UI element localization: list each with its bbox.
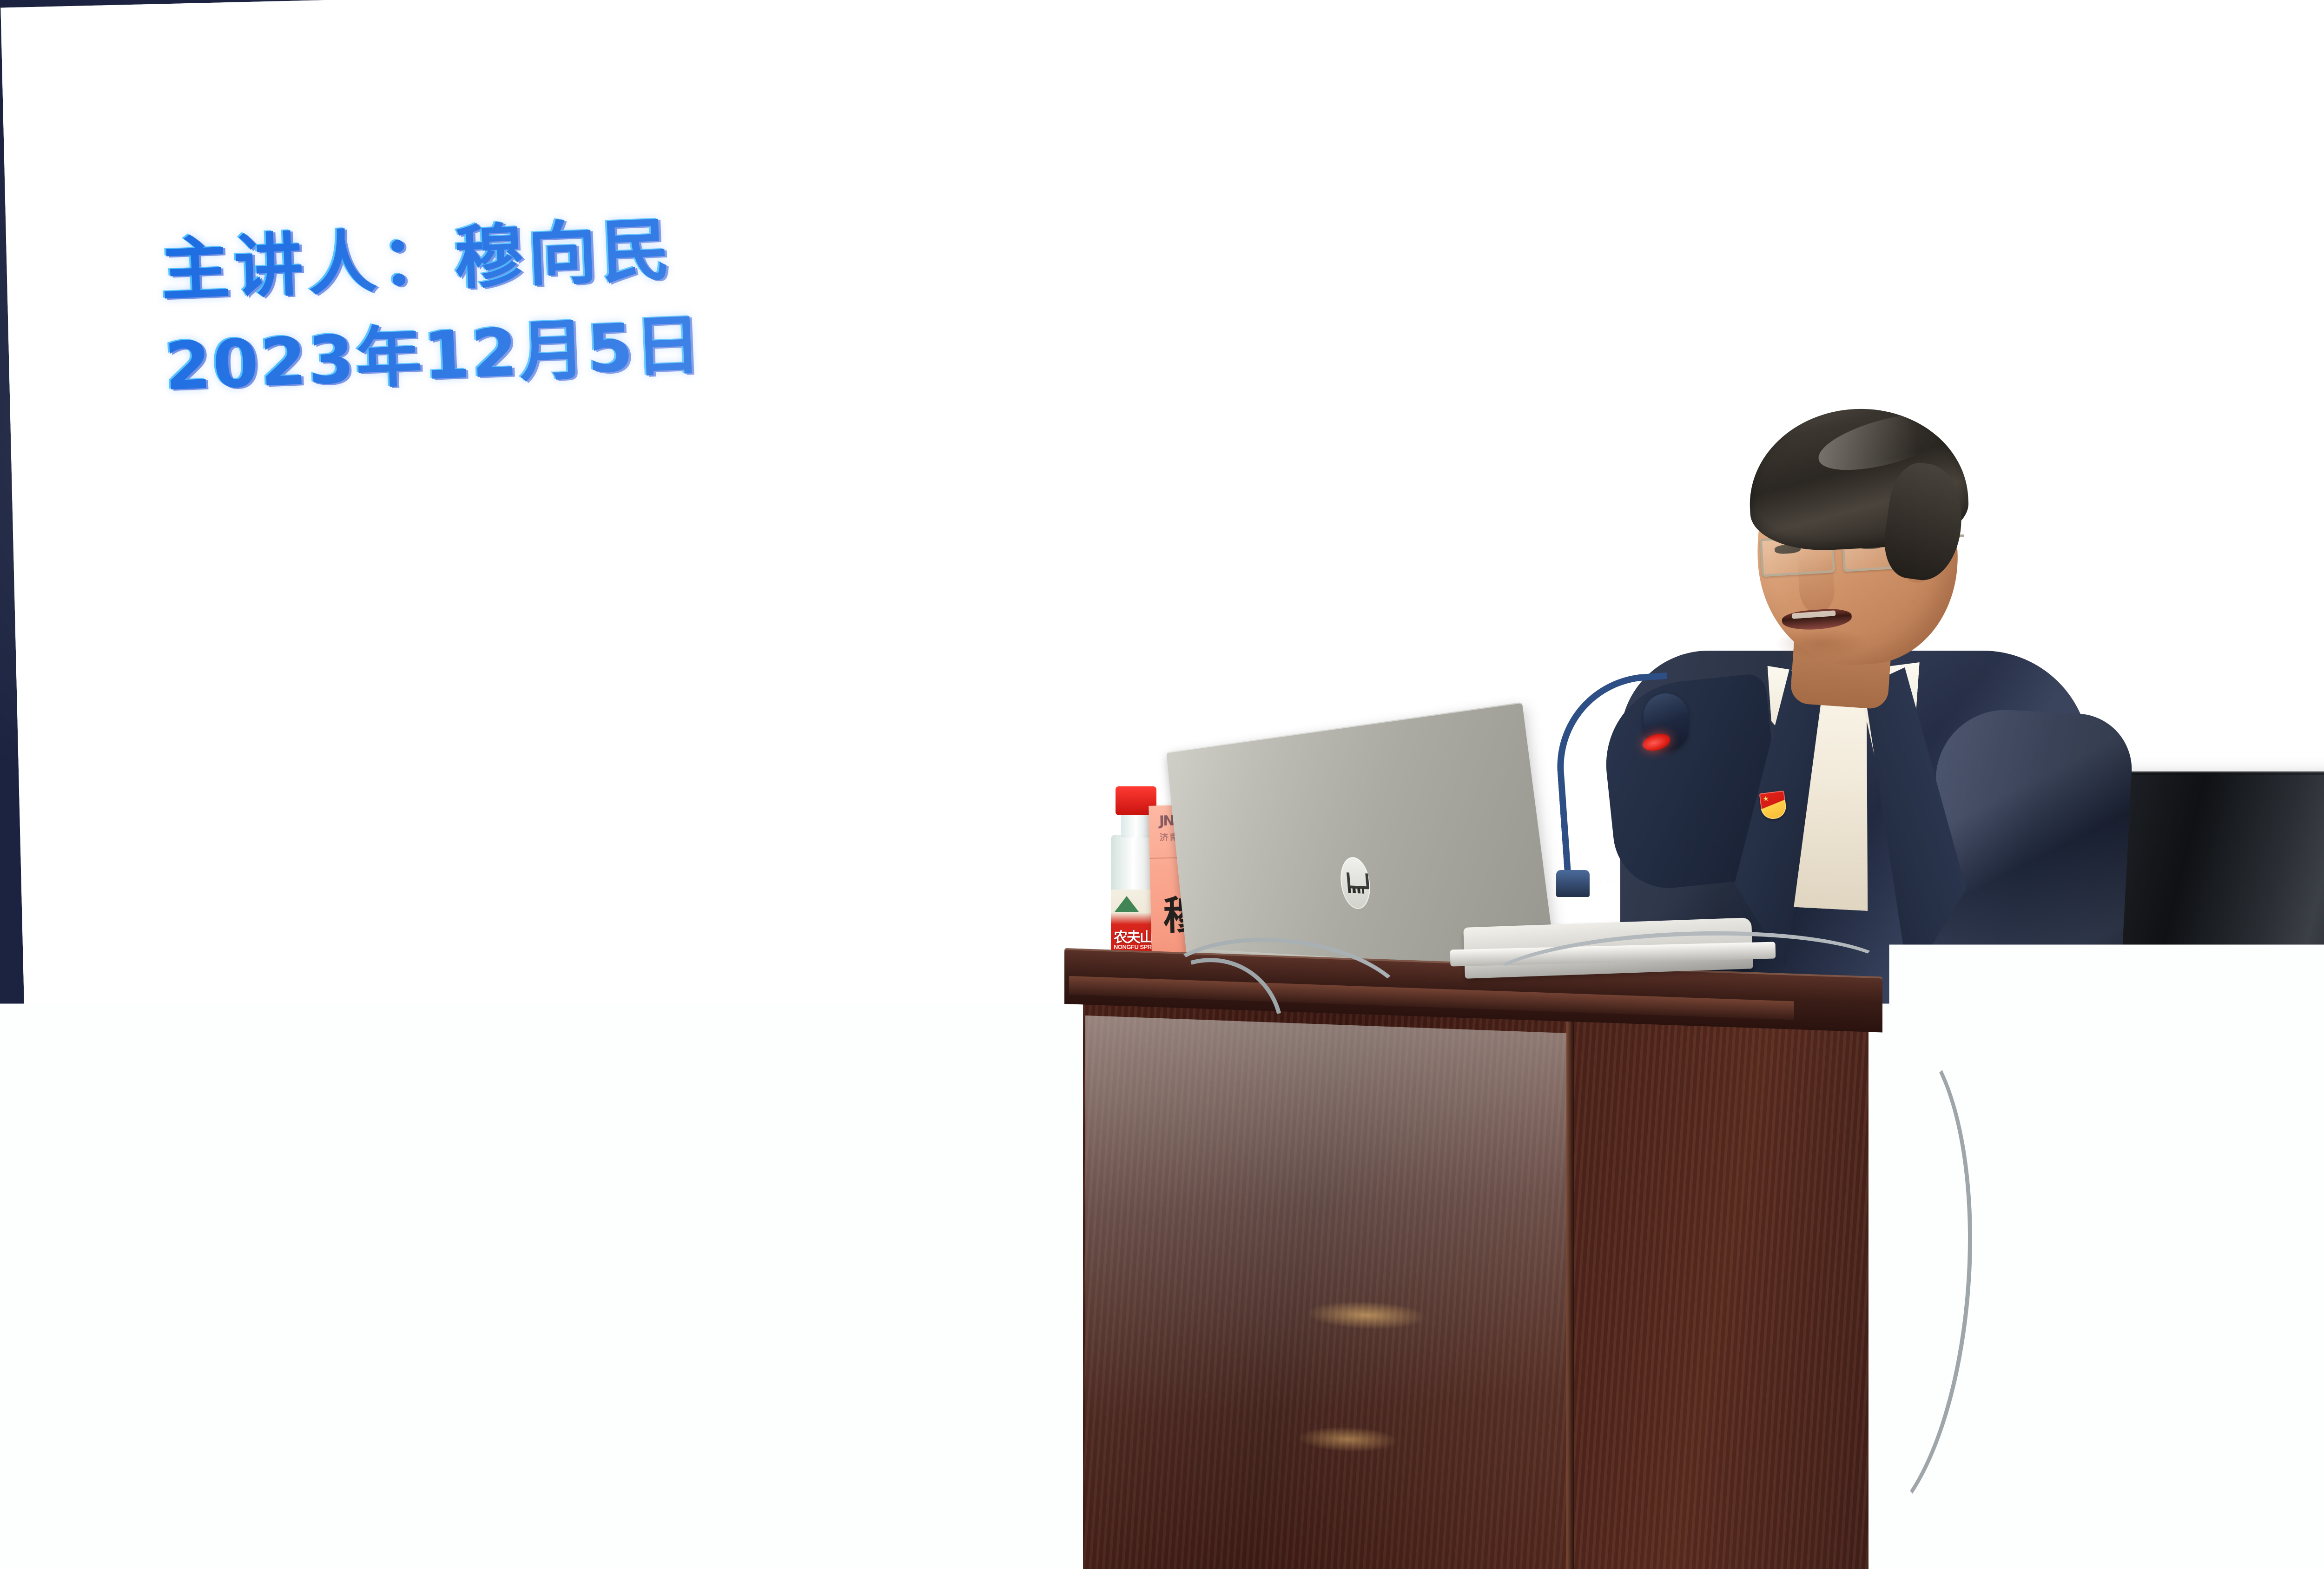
bottle-neck xyxy=(1121,813,1151,837)
speaker-chin-shadow xyxy=(1776,627,1868,660)
speaker-screw xyxy=(2133,1465,2139,1472)
microphone-base xyxy=(1556,870,1590,897)
lectern-corner-edge xyxy=(1566,1009,1574,1569)
slide-text-block: 主讲人：穆向民 2023年12月5日 xyxy=(159,205,705,409)
lectern-front-panel xyxy=(1085,1015,1569,1569)
speaker-screw xyxy=(2291,1475,2298,1481)
mountain-icon xyxy=(1115,896,1139,912)
speaker-screw xyxy=(1985,1457,1991,1464)
lecture-hall-photo: 主讲人：穆向民 2023年12月5日 xyxy=(0,0,2324,1569)
stage-monitor-speaker xyxy=(1966,1429,2324,1569)
